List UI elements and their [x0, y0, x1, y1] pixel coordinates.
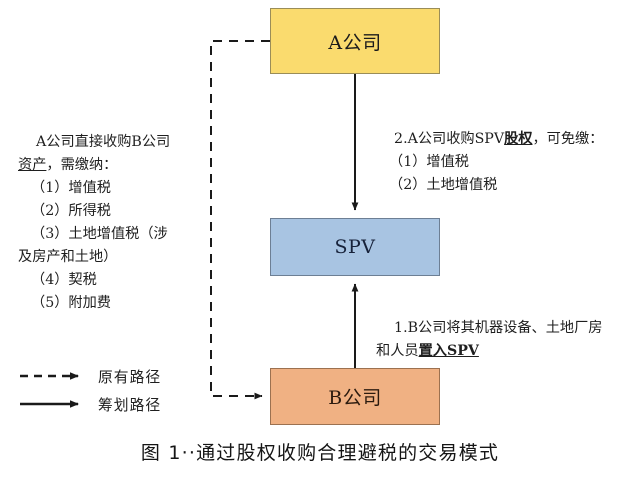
note-right-top-heading-suffix: ，可免缴： — [532, 131, 603, 147]
note-right-top-spv-equity: 2.A公司收购SPV股权，可免缴： （1）增值税（2）土地增值税 — [376, 105, 636, 243]
note-left-item-5: （5）附加费 — [18, 292, 218, 315]
diagram-canvas: A公司 SPV B公司 A公司直接收购B公司 资产，需缴纳： （1）增值税（2）… — [0, 0, 640, 478]
note-left-original-path: A公司直接收购B公司 资产，需缴纳： （1）增值税（2）所得税（3）土地增值税（… — [18, 108, 218, 361]
note-right-bottom-asset-injection: 1.B公司将其机器设备、土地厂房 和人员置入SPV — [376, 294, 634, 386]
note-left-underlined-term: 资产 — [18, 157, 46, 173]
legend-label-planned-path: 筹划路径 — [98, 394, 161, 415]
note-right-bottom-line2-prefix: 和人员 — [376, 343, 419, 359]
solid-arrow-icon — [14, 394, 86, 414]
note-left-item-3: （3）土地增值税（涉 — [18, 223, 218, 246]
edge-a-to-b-dashed — [211, 41, 270, 396]
note-right-bottom-underlined-term: 置入SPV — [419, 343, 479, 359]
note-right-top-heading-prefix: 2.A公司收购SPV — [394, 131, 504, 147]
legend-item-planned-path: 筹划路径 — [14, 390, 194, 418]
legend: 原有路径 筹划路径 — [14, 362, 194, 418]
note-left-item-1: （1）增值税 — [18, 177, 218, 200]
note-right-top-underlined-term: 股权 — [504, 131, 532, 147]
note-left-line2-rest: ，需缴纳： — [46, 157, 117, 173]
note-right-top-item-1: （1）增值税 — [376, 151, 636, 174]
node-company-a-label: A公司 — [328, 28, 381, 55]
legend-label-original-path: 原有路径 — [98, 366, 161, 387]
note-right-bottom-line1: 1.B公司将其机器设备、土地厂房 — [394, 320, 602, 336]
dashed-arrow-icon — [14, 366, 86, 386]
legend-item-original-path: 原有路径 — [14, 362, 194, 390]
node-company-a[interactable]: A公司 — [270, 8, 440, 74]
node-spv-label: SPV — [334, 236, 375, 258]
figure-caption: 图 1··通过股权收购合理避税的交易模式 — [0, 438, 640, 465]
note-right-top-item-2: （2）土地增值税 — [376, 174, 636, 197]
node-company-b-label: B公司 — [328, 383, 381, 410]
note-left-item-2: （2）所得税 — [18, 200, 218, 223]
note-left-item-4: （4）契税 — [18, 269, 218, 292]
note-left-line1: A公司直接收购B公司 — [36, 134, 170, 150]
note-left-item-3-cont: 及房产和土地） — [18, 249, 117, 265]
